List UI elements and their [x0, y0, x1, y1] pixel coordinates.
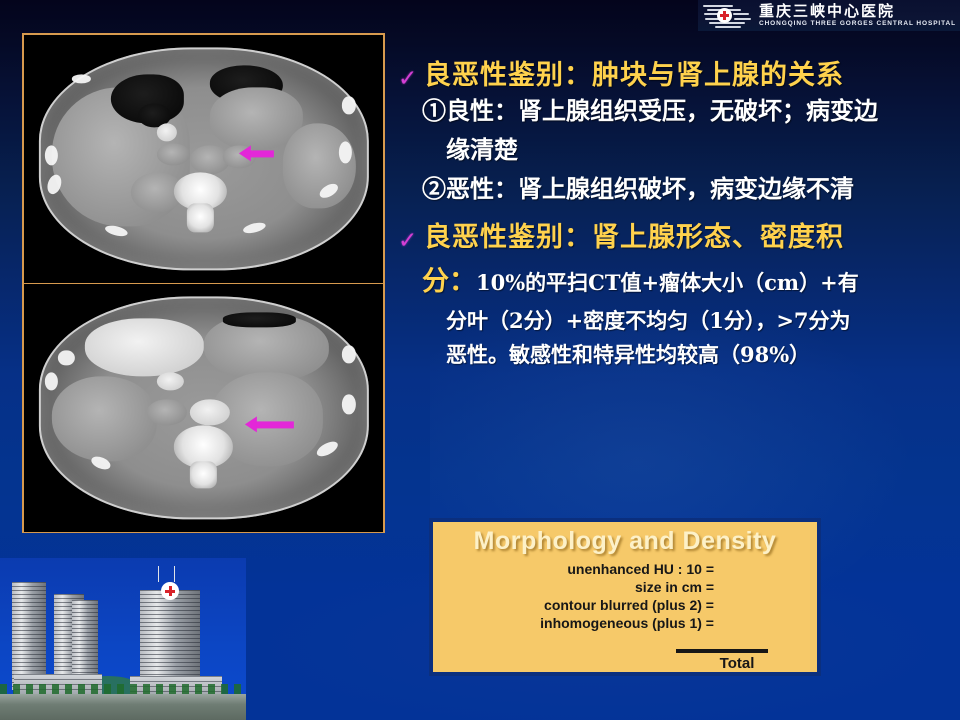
ground-plaza	[0, 694, 246, 720]
morphology-row-1: unenhanced HU : 10 =	[433, 560, 714, 578]
check-mark-icon-1: ✓	[398, 68, 424, 91]
red-cross-medical-logo-icon	[703, 2, 755, 29]
cross-icon	[717, 8, 732, 23]
section1-line-2: 缘清楚	[398, 131, 954, 170]
magenta-arrow-icon-bottom	[256, 421, 294, 428]
logo-english-name: CHONGQING THREE GORGES CENTRAL HOSPITAL	[759, 21, 956, 28]
total-label: Total	[691, 655, 783, 672]
antenna-left-icon	[158, 566, 159, 582]
section2-heading-lead: 分：	[422, 266, 476, 297]
section1-heading-part1: 良恶性鉴别：	[424, 60, 592, 91]
morphology-row-2: size in cm =	[433, 578, 714, 596]
antenna-right-icon	[174, 566, 175, 582]
hospital-logo-banner: 重庆三峡中心医院 CHONGQING THREE GORGES CENTRAL …	[698, 0, 960, 31]
section2-line-2: 恶性。敏感性和特异性均较高（98%）	[398, 338, 954, 372]
total-underline	[676, 649, 768, 653]
section1-line-1: ①良性：肾上腺组织受压，无破坏；病变边	[398, 92, 954, 131]
section2-heading-part2: 肾上腺形态、密度积	[592, 222, 844, 253]
hospital-main-tower	[140, 590, 200, 690]
morphology-row-4: inhomogeneous (plus 1) =	[433, 614, 714, 632]
bullet-section-2: ✓ 良恶性鉴别：肾上腺形态、密度积	[398, 222, 954, 254]
section1-heading: 良恶性鉴别：肿块与肾上腺的关系	[424, 60, 844, 92]
text-content: ✓ 良恶性鉴别：肿块与肾上腺的关系 ①良性：肾上腺组织受压，无破坏；病变边 缘清…	[398, 60, 954, 372]
ct-image-top	[24, 35, 383, 284]
hospital-building-photo	[0, 558, 246, 720]
magenta-arrow-icon-top	[250, 150, 274, 157]
morphology-box-title: Morphology and Density	[433, 527, 817, 556]
section1-heading-part2: 肿块与肾上腺的关系	[592, 60, 844, 91]
ct-abdomen-outline-2	[38, 296, 368, 519]
section1-line-3: ②恶性：肾上腺组织破坏，病变边缘不清	[398, 170, 954, 209]
section2-heading-part1: 良恶性鉴别：	[424, 222, 592, 253]
slide: 重庆三峡中心医院 CHONGQING THREE GORGES CENTRAL …	[0, 0, 960, 720]
section2-body-first: 10%的平扫CT值+瘤体大小（cm）+有	[476, 270, 859, 295]
section2-heading: 良恶性鉴别：肾上腺形态、密度积	[424, 222, 844, 254]
logo-chinese-name: 重庆三峡中心医院	[759, 4, 895, 19]
morphology-row-3: contour blurred (plus 2) =	[433, 596, 714, 614]
section2-line-1: 分叶（2分）+密度不均匀（1分），>7分为	[398, 304, 954, 338]
ct-image-bottom	[24, 284, 383, 532]
morphology-score-list: unenhanced HU : 10 = size in cm = contou…	[433, 560, 817, 632]
section2-first-line: 分：10%的平扫CT值+瘤体大小（cm）+有	[398, 260, 954, 304]
ct-image-panel	[22, 33, 385, 533]
morphology-density-box: Morphology and Density unenhanced HU : 1…	[429, 518, 821, 676]
bullet-section-1: ✓ 良恶性鉴别：肿块与肾上腺的关系	[398, 60, 954, 92]
ct-abdomen-outline	[38, 47, 368, 270]
check-mark-icon-2: ✓	[398, 230, 424, 253]
roof-cross-icon	[161, 582, 179, 600]
